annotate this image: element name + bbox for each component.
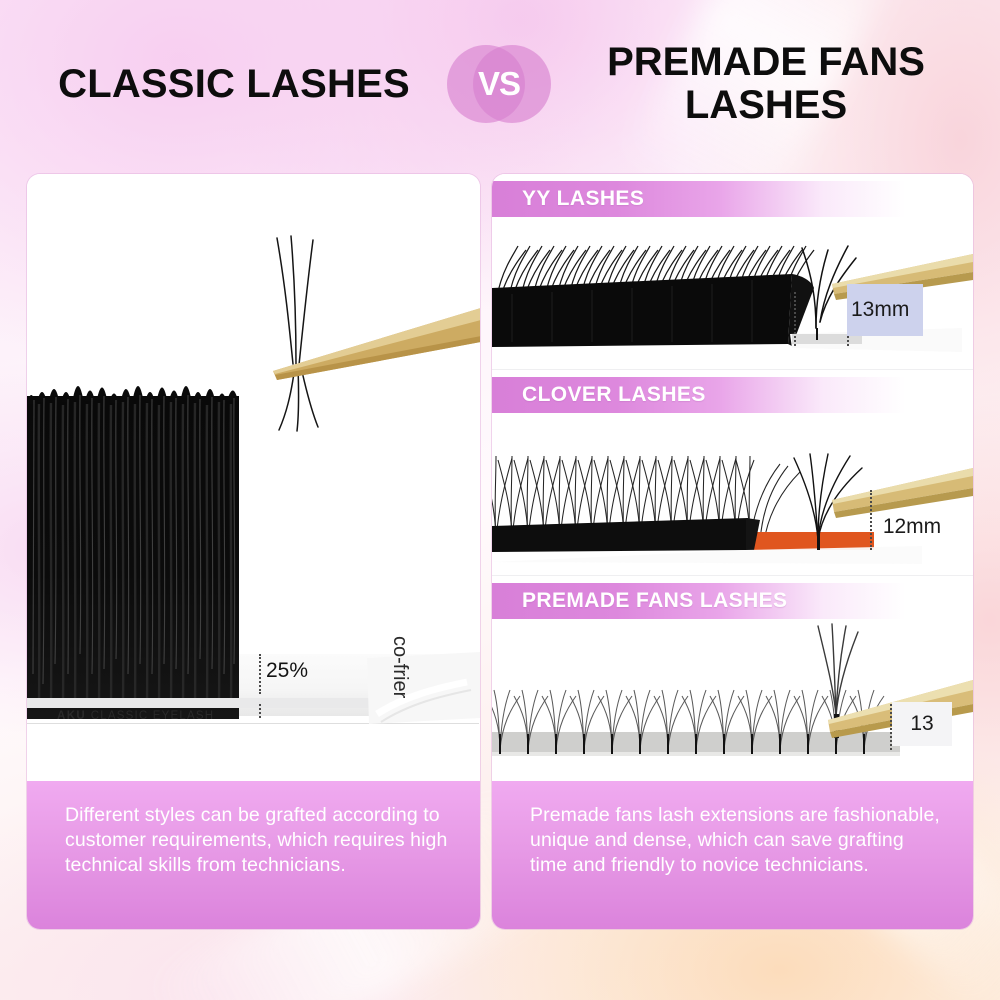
right-title-line2: LASHES bbox=[561, 84, 971, 127]
packaging-rotated-text: co-frier bbox=[388, 636, 411, 698]
measurement-chip-13mm: 13mm bbox=[847, 284, 923, 336]
individual-lashes-illustration bbox=[27, 764, 479, 781]
packaging-card bbox=[367, 652, 480, 724]
premade-fans-images: YY LASHES bbox=[492, 174, 973, 781]
tweezer-with-lash-illustration bbox=[255, 224, 480, 434]
subpanel-yy-lashes: YY LASHES bbox=[492, 174, 973, 370]
vs-label: VS bbox=[478, 65, 520, 103]
subpanel-label-text: PREMADE FANS LASHES bbox=[492, 589, 787, 613]
percent-marker: 25% bbox=[266, 659, 308, 683]
subpanel-label-banner: PREMADE FANS LASHES bbox=[492, 583, 906, 619]
measure-dotted-line-left bbox=[794, 292, 796, 346]
right-panel-caption: Premade fans lash extensions are fashion… bbox=[492, 781, 973, 929]
vs-badge: VS bbox=[447, 45, 551, 123]
measure-dotted-line bbox=[259, 654, 261, 694]
right-title: PREMADE FANS LASHES bbox=[551, 41, 971, 127]
comparison-panels: co-frier 25% AKU CLASSIC EYELASH bbox=[0, 174, 1000, 934]
premade-fans-lashes-panel: YY LASHES bbox=[492, 174, 973, 929]
measurement-chip-12mm: 12mm bbox=[877, 510, 947, 544]
brand-name: AKU bbox=[57, 710, 86, 722]
brand-descriptor: CLASSIC EYELASH bbox=[91, 710, 214, 722]
classic-lash-tray bbox=[27, 374, 239, 719]
measurement-chip-13: 13 bbox=[892, 702, 952, 746]
left-panel-caption: Different styles can be grafted accordin… bbox=[27, 781, 480, 929]
subpanel-label-banner: YY LASHES bbox=[492, 181, 906, 217]
product-strip-label: AKU CLASSIC EYELASH bbox=[57, 710, 214, 722]
classic-lashes-image: co-frier 25% AKU CLASSIC EYELASH bbox=[27, 174, 480, 781]
subpanel-premade-fans-lashes: PREMADE FANS LASHES bbox=[492, 576, 973, 781]
subpanel-label-banner: CLOVER LASHES bbox=[492, 377, 906, 413]
subpanel-clover-lashes: CLOVER LASHES bbox=[492, 370, 973, 576]
right-title-line1: PREMADE FANS bbox=[561, 41, 971, 84]
subpanel-label-text: CLOVER LASHES bbox=[492, 383, 706, 407]
header: CLASSIC LASHES VS PREMADE FANS LASHES bbox=[0, 0, 1000, 168]
measure-dotted-line bbox=[870, 490, 872, 550]
left-title: CLASSIC LASHES bbox=[29, 62, 447, 107]
classic-lashes-panel: co-frier 25% AKU CLASSIC EYELASH bbox=[27, 174, 480, 929]
subpanel-label-text: YY LASHES bbox=[492, 187, 644, 211]
measure-dotted-line bbox=[259, 704, 261, 718]
